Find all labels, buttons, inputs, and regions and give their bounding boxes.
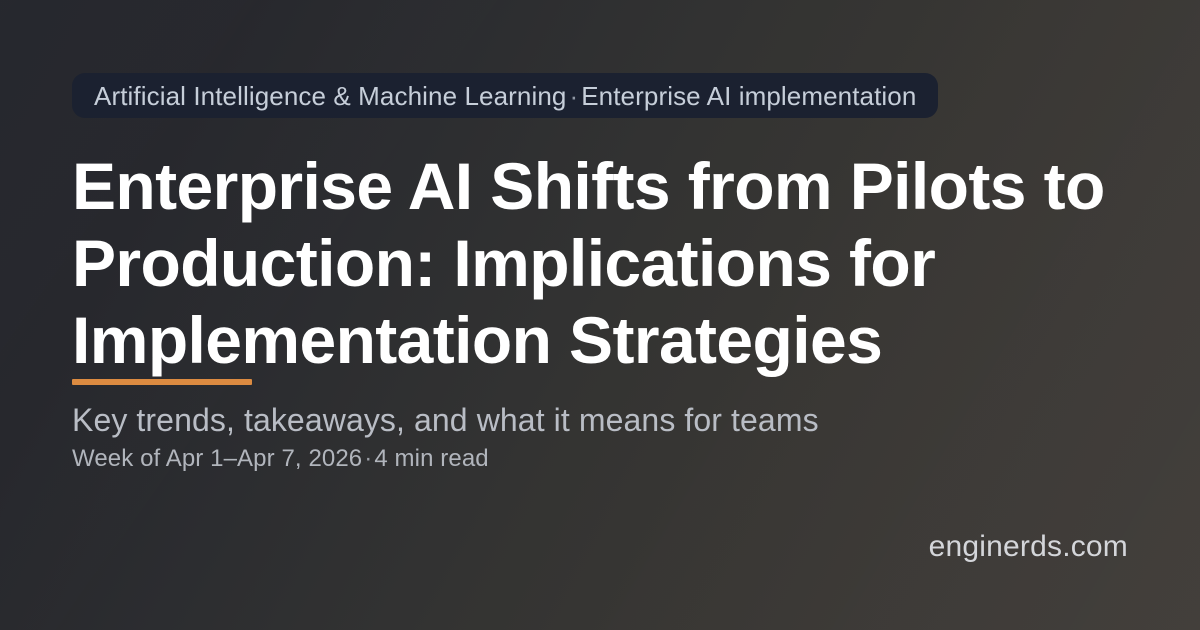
- meta-date-range: Week of Apr 1–Apr 7, 2026: [72, 445, 362, 472]
- breadcrumb-topic: Enterprise AI implementation: [581, 83, 916, 109]
- card-content: Artificial Intelligence & Machine Learni…: [72, 0, 1128, 630]
- page-title: Enterprise AI Shifts from Pilots to Prod…: [72, 148, 1132, 379]
- meta-read-time: 4 min read: [374, 445, 488, 472]
- social-share-card: Artificial Intelligence & Machine Learni…: [0, 0, 1200, 630]
- accent-rule: [72, 379, 252, 385]
- page-subtitle: Key trends, takeaways, and what it means…: [72, 400, 1132, 440]
- breadcrumb-category: Artificial Intelligence & Machine Learni…: [94, 83, 566, 109]
- breadcrumb-separator: ·: [566, 83, 581, 109]
- article-meta: Week of Apr 1–Apr 7, 2026·4 min read: [72, 443, 1132, 475]
- breadcrumb: Artificial Intelligence & Machine Learni…: [72, 73, 938, 118]
- meta-separator: ·: [362, 445, 374, 472]
- site-name: enginerds.com: [929, 527, 1128, 567]
